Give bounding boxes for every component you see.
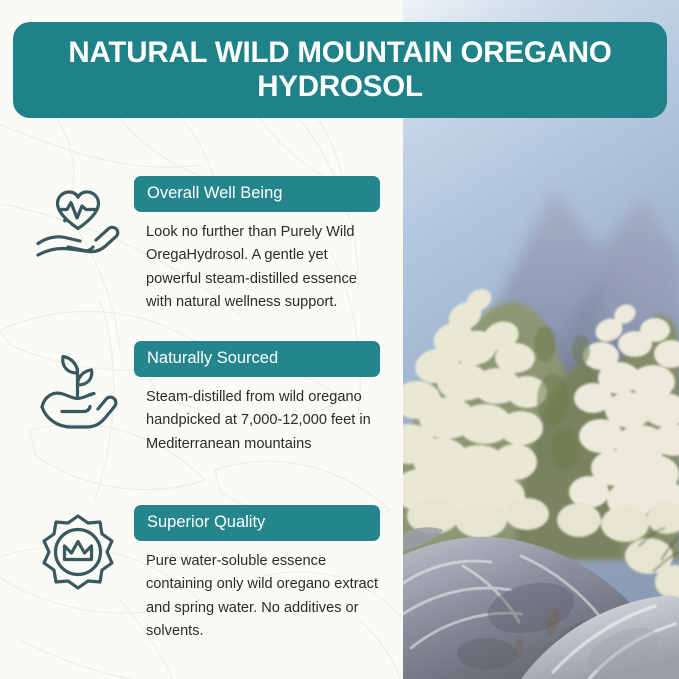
- hand-holding-heart-pulse-icon: [24, 176, 132, 274]
- product-infographic: NATURAL WILD MOUNTAIN OREGANO HYDROSOL O…: [0, 0, 679, 679]
- page-title: NATURAL WILD MOUNTAIN OREGANO HYDROSOL: [13, 36, 667, 103]
- header-banner: NATURAL WILD MOUNTAIN OREGANO HYDROSOL: [13, 22, 667, 118]
- feature-text: Steam-distilled from wild oregano handpi…: [134, 386, 380, 457]
- quality-badge-crown-icon: [24, 505, 132, 603]
- feature-superior-quality: Superior Quality Pure water-soluble esse…: [24, 505, 380, 644]
- feature-text: Look no further than Purely Wild OregaHy…: [134, 221, 380, 316]
- feature-label: Superior Quality: [134, 505, 380, 541]
- feature-overall-well-being: Overall Well Being Look no further than …: [24, 176, 380, 315]
- feature-label: Naturally Sourced: [134, 341, 380, 377]
- feature-naturally-sourced: Naturally Sourced Steam-distilled from w…: [24, 341, 380, 456]
- feature-text: Pure water-soluble essence containing on…: [134, 550, 380, 645]
- hand-holding-sprout-icon: [24, 341, 132, 439]
- feature-label: Overall Well Being: [134, 176, 380, 212]
